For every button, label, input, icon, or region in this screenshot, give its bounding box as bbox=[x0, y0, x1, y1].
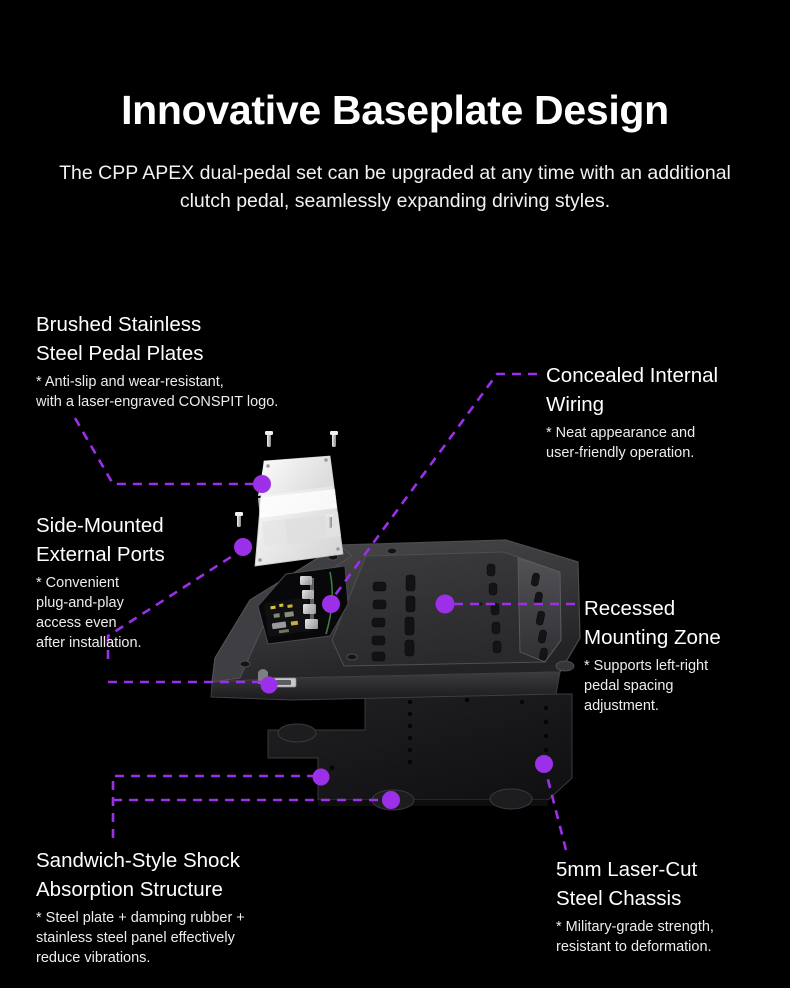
callout-shock-absorption: Sandwich-Style Shock Absorption Structur… bbox=[36, 846, 356, 969]
callout-pedal-plates: Brushed Stainless Steel Pedal Plates * A… bbox=[36, 310, 336, 413]
callout-title: 5mm Laser-Cut Steel Chassis bbox=[556, 855, 790, 913]
lower-steel-chassis bbox=[268, 694, 572, 806]
callout-title: Brushed Stainless Steel Pedal Plates bbox=[36, 310, 336, 368]
callout-steel-chassis: 5mm Laser-Cut Steel Chassis * Military-g… bbox=[556, 855, 790, 958]
callout-external-ports: Side-Mounted External Ports * Convenient… bbox=[36, 511, 246, 654]
callout-description: * Supports left-right pedal spacing adju… bbox=[584, 657, 790, 717]
callout-description: * Steel plate + damping rubber + stainle… bbox=[36, 909, 356, 969]
brushed-stainless-pedal-plate bbox=[255, 456, 343, 566]
callout-title: Concealed Internal Wiring bbox=[546, 361, 790, 419]
callout-title: Side-Mounted External Ports bbox=[36, 511, 246, 569]
callout-internal-wiring: Concealed Internal Wiring * Neat appeara… bbox=[546, 361, 790, 464]
recessed-mounting-tray bbox=[332, 552, 561, 666]
callout-description: * Military-grade strength, resistant to … bbox=[556, 918, 790, 958]
callout-title: Sandwich-Style Shock Absorption Structur… bbox=[36, 846, 356, 904]
callout-mounting-zone: Recessed Mounting Zone * Supports left-r… bbox=[584, 594, 790, 717]
callout-description: * Convenient plug-and-play access even a… bbox=[36, 574, 246, 653]
callout-description: * Neat appearance and user-friendly oper… bbox=[546, 424, 790, 464]
callout-description: * Anti-slip and wear-resistant, with a l… bbox=[36, 373, 336, 413]
product-illustration bbox=[0, 0, 790, 988]
callout-title: Recessed Mounting Zone bbox=[584, 594, 790, 652]
